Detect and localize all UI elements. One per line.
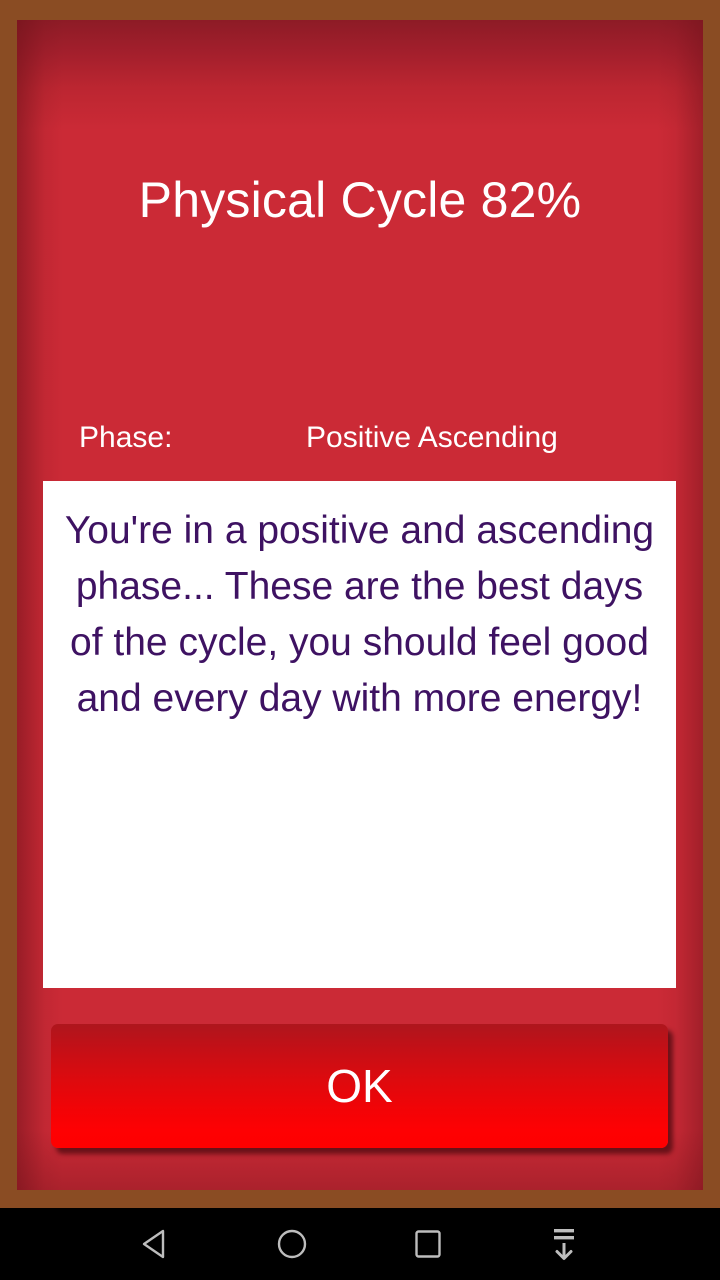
phase-label: Phase:: [79, 416, 172, 460]
message-card: You're in a positive and ascending phase…: [43, 481, 676, 988]
nav-recents-button[interactable]: [380, 1208, 476, 1280]
app-window-frame: Physical Cycle 82% Phase: Positive Ascen…: [0, 0, 720, 1208]
ok-button[interactable]: OK: [51, 1024, 668, 1148]
android-navigation-bar: [0, 1208, 720, 1280]
collapse-down-arrow-icon: [547, 1226, 581, 1262]
device-screen: Physical Cycle 82% Phase: Positive Ascen…: [0, 0, 720, 1280]
nav-home-button[interactable]: [244, 1208, 340, 1280]
phase-row: Phase: Positive Ascending: [17, 416, 703, 460]
phase-value: Positive Ascending: [306, 416, 558, 460]
dialog-title: Physical Cycle 82%: [17, 170, 703, 230]
nav-hide-button[interactable]: [516, 1208, 612, 1280]
recents-square-icon: [411, 1227, 445, 1261]
cycle-info-dialog: Physical Cycle 82% Phase: Positive Ascen…: [17, 20, 703, 1190]
message-text: You're in a positive and ascending phase…: [55, 503, 664, 727]
back-triangle-icon: [139, 1227, 173, 1261]
dialog-top-shade: [17, 20, 703, 130]
nav-back-button[interactable]: [108, 1208, 204, 1280]
home-circle-icon: [275, 1227, 309, 1261]
